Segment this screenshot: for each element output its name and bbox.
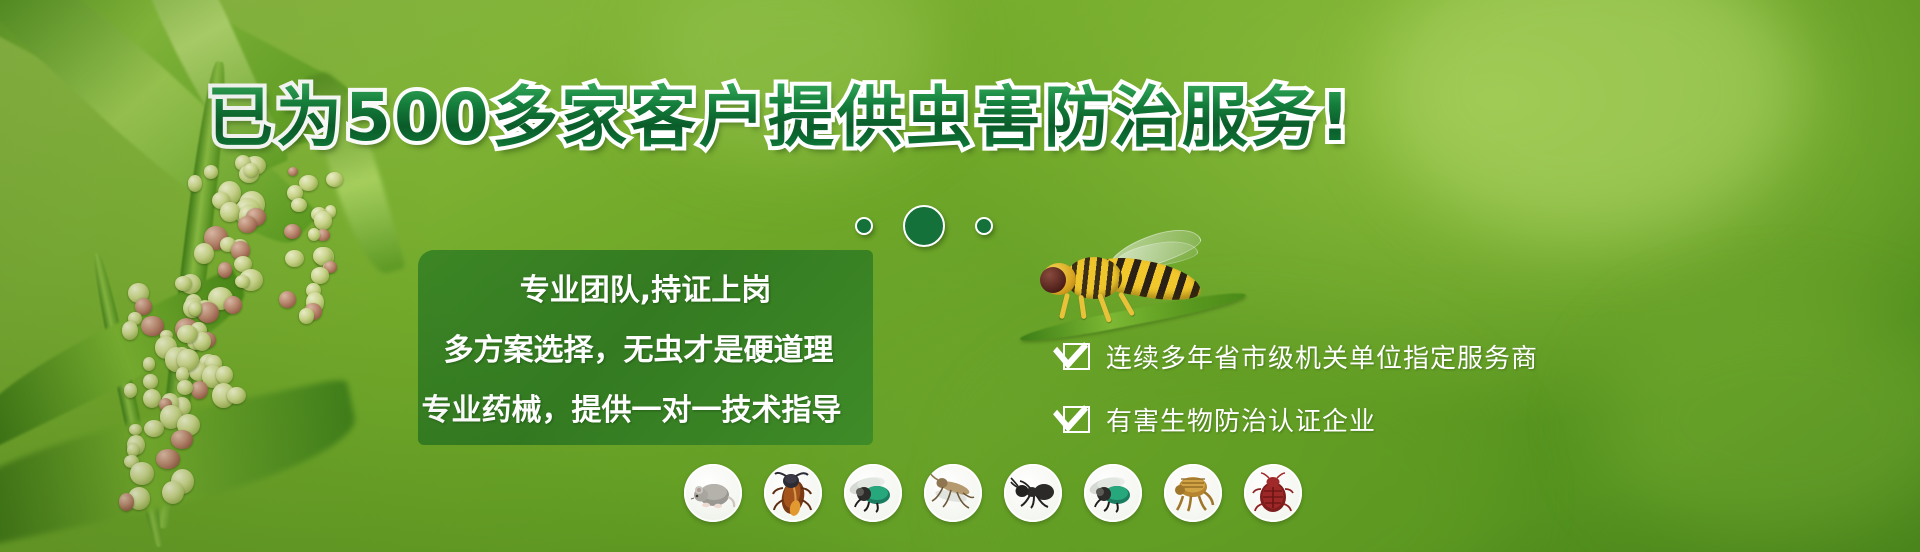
selling-points-panel: 专业团队,持证上岗 多方案选择，无虫才是硬道理 专业药械，提供一对一技术指导 (418, 250, 873, 445)
flower-bud (171, 430, 192, 448)
headline: 已为500多家客户提供虫害防治服务! 已为500多家客户提供虫害防治服务! (0, 82, 1560, 153)
headline-text-fill: 已为500多家客户提供虫害防治服务! (0, 82, 1560, 153)
flower-bud (238, 216, 257, 234)
selling-point-line-1: 专业团队,持证上岗 (418, 265, 873, 309)
flower-bud-cluster (255, 170, 345, 310)
credentials-list: 连续多年省市级机关单位指定服务商 有害生物防治认证企业 (1063, 338, 1538, 464)
flower-bud (285, 250, 304, 267)
credential-item: 连续多年省市级机关单位指定服务商 (1063, 338, 1538, 375)
mosquito-icon[interactable] (924, 464, 982, 522)
bedbug-icon[interactable] (1244, 464, 1302, 522)
flower-bud (220, 202, 239, 222)
flower-bud (326, 172, 344, 188)
flower-bud (188, 175, 203, 192)
flower-bud (216, 366, 233, 384)
flower-bud (235, 275, 250, 288)
fly-leg (1078, 295, 1086, 319)
flower-bud (284, 224, 301, 239)
credential-item: 有害生物防治认证企业 (1063, 401, 1538, 438)
flower-bud (119, 493, 134, 510)
flower-bud (308, 228, 320, 241)
flower-bud (224, 296, 243, 314)
flower-bud (124, 383, 138, 398)
flower-bud (177, 325, 198, 343)
selling-point-line-2: 多方案选择，无虫才是硬道理 (404, 325, 873, 369)
flea-icon[interactable] (1164, 464, 1222, 522)
flower-bud (204, 165, 219, 179)
flower-bud (122, 321, 138, 340)
flower-bud (143, 374, 158, 388)
fly-eye (1040, 267, 1066, 293)
credential-label: 连续多年省市级机关单位指定服务商 (1106, 338, 1538, 375)
flower-bud (130, 462, 154, 485)
dot-small-left-icon (855, 217, 873, 235)
selling-point-line-3: 专业药械，提供一对一技术指导 (390, 385, 873, 429)
flower-bud (291, 198, 307, 212)
flower-bud (156, 449, 180, 469)
background-bokeh-3 (1600, 300, 1920, 540)
mouse-icon[interactable] (684, 464, 742, 522)
checkbox-checked-icon (1063, 406, 1090, 433)
flower-bud (311, 267, 330, 283)
flower-bud (129, 424, 142, 435)
flower-bud (299, 308, 315, 323)
dot-small-right-icon (975, 217, 993, 235)
dot-large-icon (903, 205, 945, 247)
pest-control-banner: 已为500多家客户提供虫害防治服务! 已为500多家客户提供虫害防治服务! 专业… (0, 0, 1920, 552)
credential-label: 有害生物防治认证企业 (1106, 401, 1376, 438)
flower-bud (162, 481, 184, 504)
flower-bud (288, 167, 298, 176)
flower-bud (218, 262, 233, 277)
flower-bud (143, 357, 156, 371)
hoverfly-on-stalk-icon (1028, 243, 1218, 333)
flower-bud (227, 387, 246, 404)
flower-bud (279, 291, 296, 308)
fly-leg (1059, 293, 1070, 319)
flower-bud (144, 420, 165, 438)
fly-icon-2[interactable] (1084, 464, 1142, 522)
checkbox-checked-icon (1063, 343, 1090, 370)
flower-bud (143, 389, 161, 408)
flower-bud (177, 380, 193, 395)
fly-icon[interactable] (844, 464, 902, 522)
pest-types-row (684, 464, 1302, 522)
decorative-dots (855, 205, 993, 247)
flower-bud-cluster (95, 285, 205, 495)
cockroach-icon[interactable] (764, 464, 822, 522)
ant-icon[interactable] (1004, 464, 1062, 522)
flower-bud (194, 243, 214, 264)
flower-bud (314, 211, 331, 229)
